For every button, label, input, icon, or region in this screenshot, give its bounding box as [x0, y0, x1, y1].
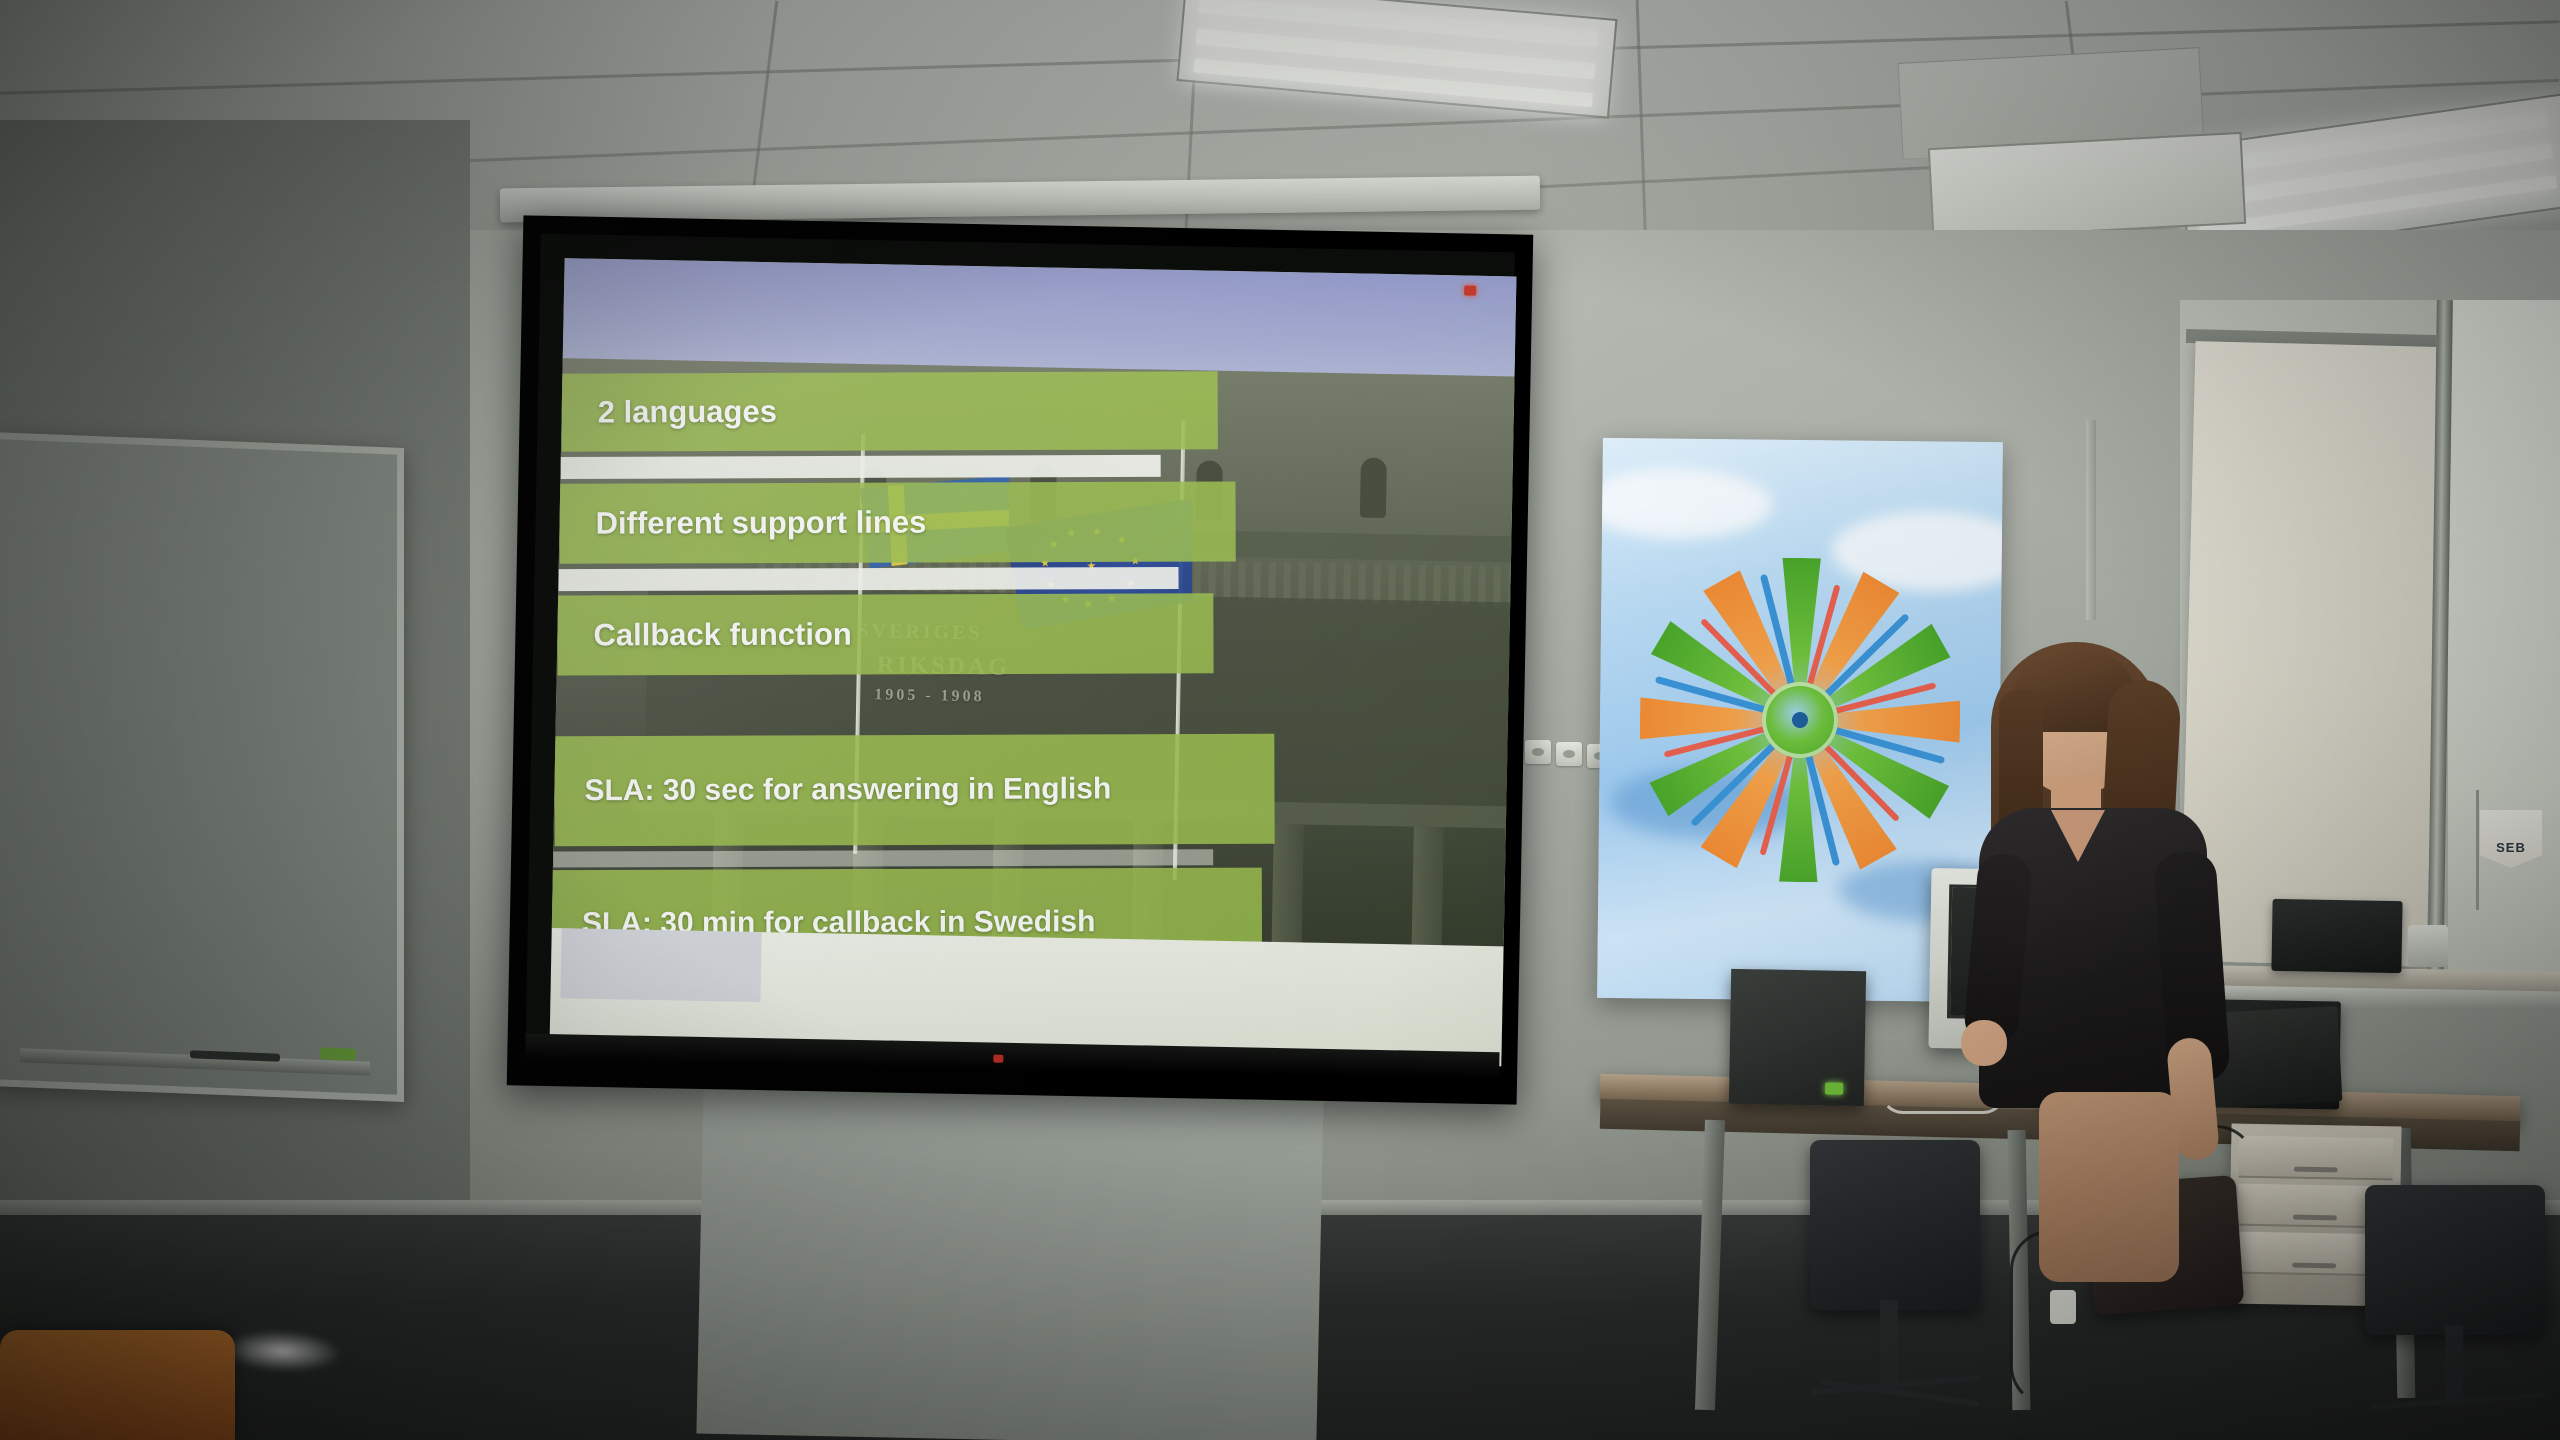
presenter	[1965, 640, 2255, 1260]
pennant-text: SEB	[2480, 840, 2542, 855]
slide-bullet-3-text: Callback function	[593, 616, 852, 653]
slide-bullet-2: Different support lines	[559, 481, 1235, 563]
screen-inner-area: SVERIGES RIKSDAG 1905 - 1908	[525, 234, 1515, 1079]
presenter-legs	[2039, 1092, 2179, 1282]
whiteboard-eraser[interactable]	[320, 1047, 356, 1060]
office-chair-left[interactable]	[1810, 1140, 1980, 1310]
cabinet-drawer[interactable]	[2239, 1136, 2394, 1181]
mandala-graphic	[1633, 553, 1966, 886]
facade-inscription-line3: 1905 - 1908	[874, 686, 985, 706]
presenter-left-hand	[1961, 1020, 2007, 1066]
slide-bullet-4: SLA: 30 sec for answering in English	[554, 734, 1274, 847]
whiteboard[interactable]	[0, 432, 404, 1102]
power-socket[interactable]	[1556, 742, 1582, 766]
slide-bullet-4-text: SLA: 30 sec for answering in English	[584, 772, 1111, 809]
meeting-room-photo: SVERIGES RIKSDAG 1905 - 1908	[0, 0, 2560, 1440]
projector-screen-lower-panel	[696, 1084, 1323, 1440]
laptop[interactable]	[2271, 899, 2402, 973]
orange-stool[interactable]	[0, 1330, 235, 1440]
mandala-center-dot	[1792, 712, 1808, 728]
slide-bullet-3: Callback function	[557, 593, 1213, 675]
screen-indicator-dot	[993, 1055, 1003, 1063]
presentation-slide: SVERIGES RIKSDAG 1905 - 1908	[549, 258, 1516, 1066]
power-socket[interactable]	[1525, 740, 1551, 764]
slide-bullet-2-text: Different support lines	[596, 504, 927, 542]
office-chair-right[interactable]	[2365, 1185, 2545, 1335]
cable-plug	[2050, 1290, 2076, 1324]
screen-power-led	[1464, 285, 1476, 295]
tower-power-led	[1825, 1082, 1843, 1094]
wall-conduit	[2086, 420, 2096, 620]
pennant-pole	[2476, 790, 2479, 910]
slide-footer-box	[560, 928, 761, 1002]
slide-bullet-1: 2 languages	[562, 371, 1218, 451]
slide-bullet-1-text: 2 languages	[598, 394, 777, 431]
ceiling-vent	[1928, 132, 2246, 240]
coffee-mug[interactable]	[2408, 925, 2448, 967]
chair-post	[2445, 1325, 2463, 1405]
window-glass	[2448, 300, 2560, 990]
desktop-tower[interactable]	[1729, 969, 1866, 1106]
projection-screen: SVERIGES RIKSDAG 1905 - 1908	[507, 215, 1534, 1104]
chair-post	[1880, 1300, 1898, 1390]
